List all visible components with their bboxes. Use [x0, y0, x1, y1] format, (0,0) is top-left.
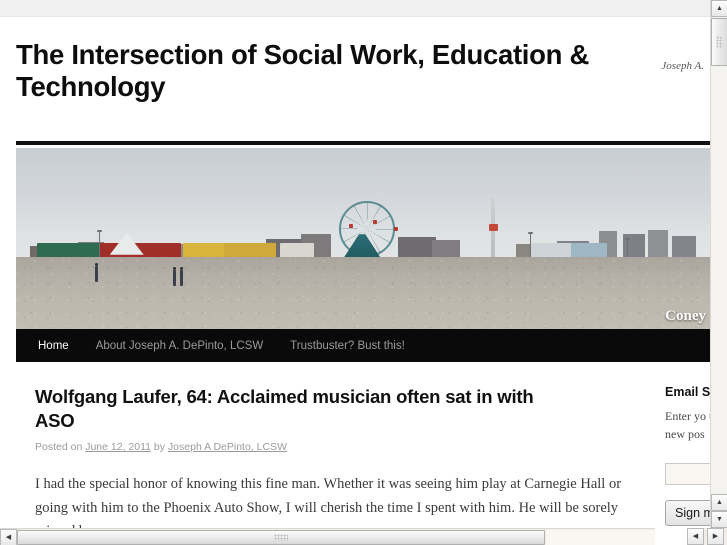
banner-image: Coney: [16, 148, 710, 329]
left-arrow-icon: ◀: [693, 533, 698, 540]
post-meta-prefix: Posted on: [35, 441, 85, 453]
email-subscription-title: Email S: [665, 385, 710, 399]
banner-person: [173, 270, 176, 286]
browser-viewport: The Intersection of Social Work, Educati…: [0, 0, 727, 545]
post-title[interactable]: Wolfgang Laufer, 64: Acclaimed musician …: [35, 385, 555, 432]
banner-caption: Coney: [665, 308, 706, 325]
web-page: The Intersection of Social Work, Educati…: [0, 17, 710, 528]
scroll-down-button[interactable]: ▼: [711, 511, 727, 528]
scroll-left-button-corner[interactable]: ◀: [687, 528, 704, 545]
horizontal-scroll-track[interactable]: [546, 530, 655, 545]
post-body: I had the special honor of knowing this …: [35, 473, 625, 528]
left-arrow-icon: ◀: [6, 534, 11, 541]
tower-top-light: [489, 224, 498, 231]
down-arrow-icon: ▼: [716, 516, 723, 523]
up-arrow-icon: ▲: [716, 499, 723, 506]
post-date-link[interactable]: June 12, 2011: [85, 441, 151, 453]
nav-item-about[interactable]: About Joseph A. DePinto, LCSW: [96, 340, 263, 352]
site-tagline: Joseph A.: [661, 60, 704, 72]
banner-sand: [16, 257, 710, 329]
nav-item-trustbuster[interactable]: Trustbuster? Bust this!: [290, 340, 405, 352]
vertical-scroll-thumb[interactable]: [711, 18, 727, 66]
email-subscription-text: Enter yo to this bl new pos: [665, 407, 710, 443]
banner-person: [95, 266, 98, 282]
scroll-left-button[interactable]: ◀: [0, 529, 17, 545]
post-meta: Posted on June 12, 2011 by Joseph A DePi…: [35, 441, 645, 453]
scroll-up-button[interactable]: ▲: [711, 0, 727, 17]
scroll-grip-icon: [274, 534, 288, 541]
scrollbar-corner-buttons: ◀ ▶: [687, 528, 727, 545]
signup-button[interactable]: Sign m: [665, 500, 710, 526]
vertical-scroll-buttons: ▲ ▼: [711, 494, 727, 528]
sidebar: Email S Enter yo to this bl new pos Sign…: [665, 385, 710, 526]
post-author-link[interactable]: Joseph A DePinto, LCSW: [168, 441, 287, 453]
horizontal-scrollbar[interactable]: ◀: [0, 528, 655, 545]
post-meta-by: by: [151, 441, 168, 453]
scroll-right-button-corner[interactable]: ▶: [707, 528, 724, 545]
email-input[interactable]: [665, 463, 710, 485]
top-chrome-strip: [0, 0, 710, 17]
vertical-scrollbar[interactable]: ▲ ▲ ▼: [710, 0, 727, 528]
horizontal-scroll-thumb[interactable]: [17, 530, 545, 545]
site-title[interactable]: The Intersection of Social Work, Educati…: [16, 39, 616, 104]
header-divider: [16, 141, 710, 145]
banner-person: [180, 270, 183, 286]
main-content: Wolfgang Laufer, 64: Acclaimed musician …: [35, 385, 645, 528]
site-header: The Intersection of Social Work, Educati…: [0, 17, 710, 125]
scroll-grip-icon: [716, 36, 723, 48]
nav-item-home[interactable]: Home: [38, 340, 69, 352]
scroll-up-button-bottom[interactable]: ▲: [711, 494, 727, 511]
primary-navigation: Home About Joseph A. DePinto, LCSW Trust…: [16, 329, 710, 362]
up-arrow-icon: ▲: [716, 5, 723, 12]
right-arrow-icon: ▶: [713, 533, 718, 540]
